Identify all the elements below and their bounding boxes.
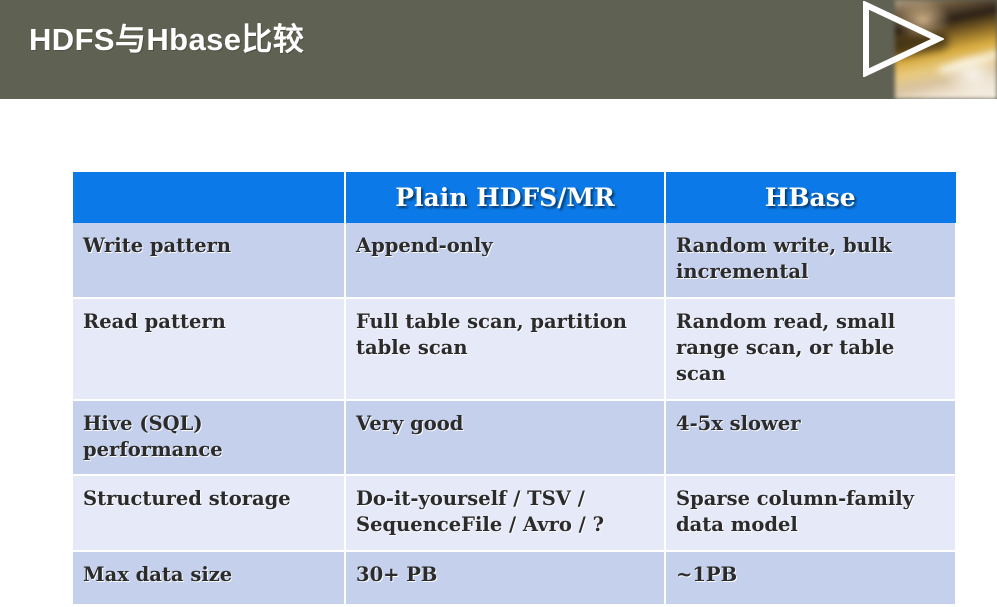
photo-blur-shape-light <box>937 45 997 75</box>
table-body: Write pattern Append-only Random write, … <box>73 223 955 605</box>
table-header: Plain HDFS/MR HBase <box>73 173 955 223</box>
cell-feature: Hive (SQL) performance <box>73 400 345 476</box>
table-row: Read pattern Full table scan, partition … <box>73 298 955 400</box>
page-title: HDFS与Hbase比较 <box>29 14 304 59</box>
column-header-plain-hdfs-mr: Plain HDFS/MR <box>345 173 665 223</box>
column-header-feature <box>73 173 345 223</box>
table-row: Structured storage Do-it-yourself / TSV … <box>73 475 955 551</box>
cell-feature: Read pattern <box>73 298 345 400</box>
cell-hbase: ~1PB <box>665 551 955 604</box>
cell-hbase: Random read, small range scan, or table … <box>665 298 955 400</box>
cell-hbase: Random write, bulk incremental <box>665 223 955 298</box>
cell-feature: Write pattern <box>73 223 345 298</box>
slide-title-banner: HDFS与Hbase比较 <box>0 0 997 99</box>
decorative-photo <box>895 0 997 99</box>
cell-feature: Max data size <box>73 551 345 604</box>
column-header-hbase: HBase <box>665 173 955 223</box>
cell-hdfs: Append-only <box>345 223 665 298</box>
cell-hdfs: 30+ PB <box>345 551 665 604</box>
cell-hdfs: Full table scan, partition table scan <box>345 298 665 400</box>
table-row: Hive (SQL) performance Very good 4-5x sl… <box>73 400 955 476</box>
cell-hdfs: Do-it-yourself / TSV / SequenceFile / Av… <box>345 475 665 551</box>
cell-hbase: 4-5x slower <box>665 400 955 476</box>
table-header-row: Plain HDFS/MR HBase <box>73 173 955 223</box>
cell-feature: Structured storage <box>73 475 345 551</box>
hdfs-hbase-comparison-table: Plain HDFS/MR HBase Write pattern Append… <box>73 172 956 604</box>
cell-hbase: Sparse column-family data model <box>665 475 955 551</box>
cell-hdfs: Very good <box>345 400 665 476</box>
photo-blur-shape-dark <box>895 31 950 59</box>
table-row: Write pattern Append-only Random write, … <box>73 223 955 298</box>
table-row: Max data size 30+ PB ~1PB <box>73 551 955 604</box>
